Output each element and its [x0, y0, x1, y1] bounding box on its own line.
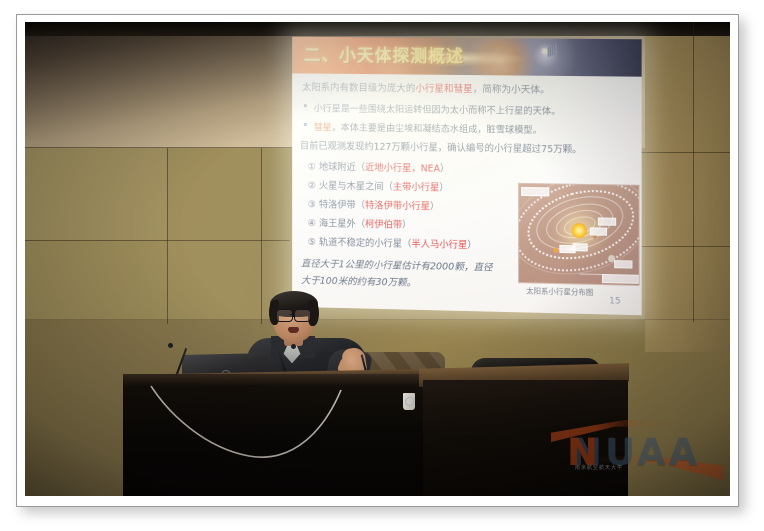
wall-seam	[25, 240, 290, 241]
item-4-number: ④	[308, 218, 316, 229]
bullet-2-head: 彗星	[314, 122, 332, 133]
label-leader-line	[580, 273, 604, 274]
slide-title: 二、小天体探测概述	[304, 41, 464, 67]
figure-label	[602, 274, 639, 284]
slide-list-item-3: ③ 特洛伊带（特洛伊带小行星）	[308, 196, 440, 212]
item-5-number: ⑤	[308, 237, 316, 248]
item-5-tail: ）	[467, 240, 476, 251]
wall-seam	[640, 152, 730, 153]
figure-caption: 太阳系小行星分布图	[526, 285, 593, 298]
nuaa-watermark: NUAA N 南京航空航天大学	[545, 414, 720, 484]
slide-list-item-4: ④ 海王星外（柯伊伯带）	[308, 215, 412, 231]
solar-system-figure	[518, 183, 640, 286]
item-3-highlight: 特洛伊带小行星	[365, 200, 430, 212]
lead-part-c: ，简称为小天体。	[473, 84, 550, 96]
white-cable	[145, 384, 375, 468]
item-1-highlight: 近地小行星，NEA	[365, 162, 440, 174]
lecture-photo: 二、小天体探测概述 太阳系内有数目级为庞大的小行星和彗星，简称为小天体。 小行星…	[25, 22, 730, 496]
bullet-1-head: 小行星	[314, 103, 341, 114]
item-4-text: 海王星外（	[319, 218, 365, 230]
slide-bullet-1: 小行星是一些围绕太阳运转但因为太小而称不上行星的天体。	[314, 100, 561, 117]
slide-title-banner: 二、小天体探测概述	[292, 37, 641, 77]
bullet-2-rest: ，本体主要是由尘埃和凝结态水组成，脏雪球模型。	[332, 122, 542, 136]
planet-marker	[553, 248, 558, 253]
figure-label	[573, 243, 588, 251]
wall-right	[645, 22, 730, 352]
item-2-highlight: 主带小行星	[393, 182, 440, 194]
item-1-number: ①	[308, 162, 316, 173]
bullet-marker	[304, 123, 307, 126]
figure-label	[598, 217, 616, 225]
item-3-number: ③	[308, 199, 316, 210]
slide-list-item-2: ② 火星与木星之间（主带小行星）	[308, 177, 449, 193]
item-5-text: 轨道不稳定的小行星（	[319, 237, 411, 250]
item-2-text: 火星与木星之间（	[319, 181, 393, 193]
spacecraft-icon	[534, 44, 554, 60]
wall-seam	[640, 246, 730, 247]
slide-list-item-5: ⑤ 轨道不稳定的小行星（半人马小行星）	[308, 234, 477, 251]
lecture-room: 二、小天体探测概述 太阳系内有数目级为庞大的小行星和彗星，简称为小天体。 小行星…	[25, 22, 730, 496]
item-5-highlight: 半人马小行星	[411, 239, 467, 251]
item-1-text: 地球附近（	[319, 162, 365, 174]
glasses-bridge	[290, 314, 295, 315]
wall-seam-vertical	[167, 148, 168, 324]
slide-observation-line: 目前已观测发现约127万颗小行星，确认编号的小行星超过75万颗。	[300, 138, 582, 156]
item-4-highlight: 柯伊伯带	[365, 219, 402, 231]
slide-lead-line: 太阳系内有数目级为庞大的小行星和彗星，简称为小天体。	[302, 79, 550, 96]
lead-part-a: 太阳系内有数目级为庞大的	[302, 82, 415, 94]
item-4-tail: ）	[402, 220, 411, 231]
item-2-tail: ）	[439, 183, 448, 194]
slide-footer-line-2: 大于100米的约有30万颗。	[301, 272, 416, 288]
figure-label	[521, 187, 549, 197]
figure-label	[590, 227, 607, 235]
projection-screen: 二、小天体探测概述 太阳系内有数目级为庞大的小行星和彗星，简称为小天体。 小行星…	[292, 37, 641, 316]
sun	[572, 223, 587, 238]
microphone-head	[291, 344, 296, 349]
bullet-1-rest: 是一些围绕太阳运转但因为太小而称不上行星的天体。	[341, 104, 561, 118]
slide-bullet-2: 彗星，本体主要是由尘埃和凝结态水组成，脏雪球模型。	[314, 119, 542, 136]
wall-seam-vertical	[693, 22, 694, 322]
slide-list-item-1: ① 地球附近（近地小行星，NEA）	[308, 159, 450, 175]
slide-page-number: 15	[609, 296, 621, 306]
slide-footer-line-1: 直径大于1公里的小行星估计有2000颗，直径	[301, 256, 493, 274]
item-3-text: 特洛伊带（	[319, 199, 365, 211]
watermark-subtext: 南京航空航天大学	[575, 464, 623, 471]
item-1-tail: ）	[440, 164, 449, 175]
lead-part-highlight: 小行星和彗星	[415, 83, 472, 95]
figure-label	[614, 260, 632, 268]
paper-cup	[403, 393, 415, 410]
photo-frame: 二、小天体探测概述 太阳系内有数目级为庞大的小行星和彗星，简称为小天体。 小行星…	[0, 0, 764, 531]
item-3-tail: ）	[430, 201, 439, 212]
slide-body: 太阳系内有数目级为庞大的小行星和彗星，简称为小天体。 小行星是一些围绕太阳运转但…	[292, 73, 641, 315]
item-2-number: ②	[308, 180, 316, 191]
ceiling-band	[25, 22, 730, 36]
bullet-marker	[304, 104, 307, 107]
wall-highlight	[25, 148, 167, 240]
presenter-mouth	[288, 327, 299, 333]
glasses-lens-right	[294, 309, 311, 322]
microphone-head	[168, 343, 173, 348]
glasses-lens-left	[276, 309, 293, 322]
